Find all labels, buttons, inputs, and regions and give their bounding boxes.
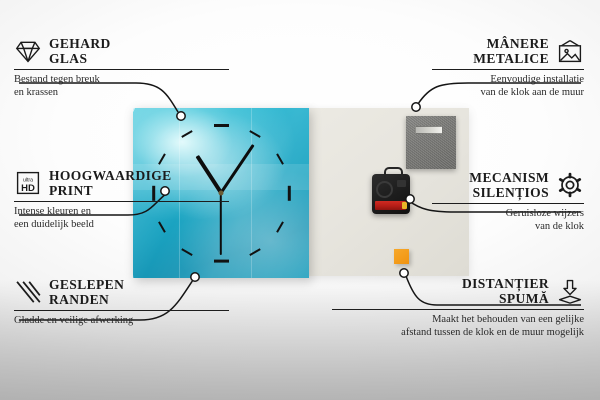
feature-rule xyxy=(14,69,229,70)
feature-distantier-spuma: DISTANȚIERSPUMĂ Maakt het behouden van e… xyxy=(332,276,584,339)
feature-heading: MECANISMSILENȚIOS xyxy=(432,170,584,200)
feature-mecanism-silentios: MECANISMSILENȚIOS Geruisloze wijzersvan … xyxy=(432,170,584,233)
connector-dot-mecanism-silentios xyxy=(406,195,414,203)
feature-title: GEHARDGLAS xyxy=(49,36,111,66)
feature-geslepen-randen: GESLEPENRANDEN Gladde en veilige afwerki… xyxy=(14,277,229,328)
feature-description: Geruisloze wijzersvan de klok xyxy=(432,208,584,233)
feature-description: Maakt het behouden van een gelijkeafstan… xyxy=(332,314,584,339)
gear-icon xyxy=(556,172,584,198)
feature-rule xyxy=(14,201,229,202)
feature-heading: ultra HD HOOGWAARDIGEPRINT xyxy=(14,168,229,198)
connector-dot-manere-metalice xyxy=(412,103,420,111)
wall-mount-picture-icon xyxy=(556,38,584,64)
feature-heading: DISTANȚIERSPUMĂ xyxy=(332,276,584,306)
feature-rule xyxy=(332,309,584,310)
feature-manere-metalice: MÂNEREMETALICE Eenvoudige installatievan… xyxy=(432,36,584,99)
clock-hand-hub xyxy=(219,191,224,196)
feature-rule xyxy=(432,69,584,70)
feature-title: DISTANȚIERSPUMĂ xyxy=(462,276,549,306)
feature-rule xyxy=(14,310,229,311)
feature-description: Bestand tegen breuken krassen xyxy=(14,74,229,99)
feature-title: MECANISMSILENȚIOS xyxy=(469,170,549,200)
feature-rule xyxy=(432,203,584,204)
feature-title: GESLEPENRANDEN xyxy=(49,277,124,307)
feature-title: HOOGWAARDIGEPRINT xyxy=(49,168,172,198)
diamond-icon xyxy=(14,38,42,64)
feature-description: Gladde en veilige afwerking xyxy=(14,315,229,328)
feature-heading: GEHARDGLAS xyxy=(14,36,229,66)
spacer-down-arrow-icon xyxy=(556,278,584,304)
svg-text:HD: HD xyxy=(21,183,35,194)
ultra-hd-icon: ultra HD xyxy=(14,170,42,196)
feature-description: Intense kleuren eneen duidelijk beeld xyxy=(14,206,229,231)
connector-dot-gehard-glas xyxy=(177,112,185,120)
infographic-stage: GEHARDGLAS Bestand tegen breuken krassen… xyxy=(0,0,600,400)
feature-heading: MÂNEREMETALICE xyxy=(432,36,584,66)
feature-description: Eenvoudige installatievan de klok aan de… xyxy=(432,74,584,99)
feature-hoogwaardige-print: ultra HD HOOGWAARDIGEPRINT Intense kleur… xyxy=(14,168,229,231)
bevelled-edge-icon xyxy=(14,279,42,305)
feature-title: MÂNEREMETALICE xyxy=(473,36,549,66)
feature-gehard-glas: GEHARDGLAS Bestand tegen breuken krassen xyxy=(14,36,229,99)
feature-heading: GESLEPENRANDEN xyxy=(14,277,229,307)
